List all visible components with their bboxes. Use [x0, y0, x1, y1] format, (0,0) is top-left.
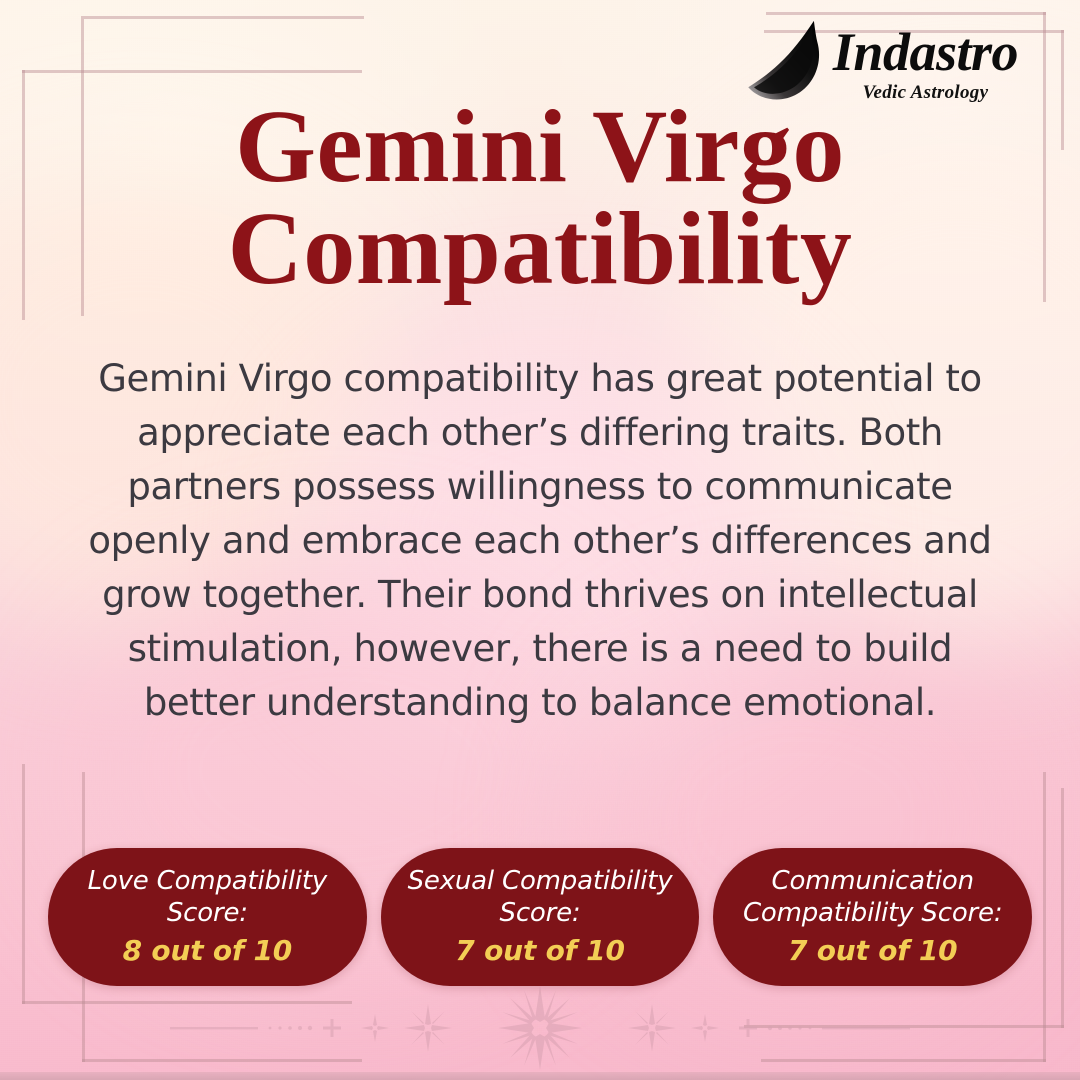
- score-label: Love Compatibility Score:: [62, 866, 353, 929]
- poster-canvas: Indastro Vedic Astrology Gemini Virgo Co…: [0, 0, 1080, 1080]
- score-pill-love[interactable]: Love Compatibility Score: 8 out of 10: [48, 848, 367, 986]
- title-line-2: Compatibility: [0, 198, 1080, 300]
- score-pill-group: Love Compatibility Score: 8 out of 10 Se…: [48, 848, 1032, 986]
- title-line-1: Gemini Virgo: [235, 89, 845, 204]
- score-pill-communication[interactable]: Communication Compatibility Score: 7 out…: [713, 848, 1032, 986]
- starburst-divider-icon: [160, 984, 920, 1070]
- score-value: 7 out of 10: [788, 934, 957, 968]
- score-pill-sexual[interactable]: Sexual Compatibility Score: 7 out of 10: [381, 848, 700, 986]
- score-label: Communication Compatibility Score:: [727, 866, 1018, 929]
- page-title: Gemini Virgo Compatibility: [0, 96, 1080, 300]
- bottom-edge-strip: [0, 1072, 1080, 1080]
- brand-wordmark: Indastro Vedic Astrology: [833, 25, 1018, 102]
- brand-tagline: Vedic Astrology: [863, 83, 989, 102]
- score-value: 7 out of 10: [455, 934, 624, 968]
- score-value: 8 out of 10: [123, 934, 292, 968]
- brand-name: Indastro: [833, 25, 1018, 79]
- crescent-moon-icon: [745, 18, 827, 104]
- description-paragraph: Gemini Virgo compatibility has great pot…: [70, 352, 1010, 730]
- score-label: Sexual Compatibility Score:: [395, 866, 686, 929]
- brand-logo[interactable]: Indastro Vedic Astrology: [745, 22, 1018, 104]
